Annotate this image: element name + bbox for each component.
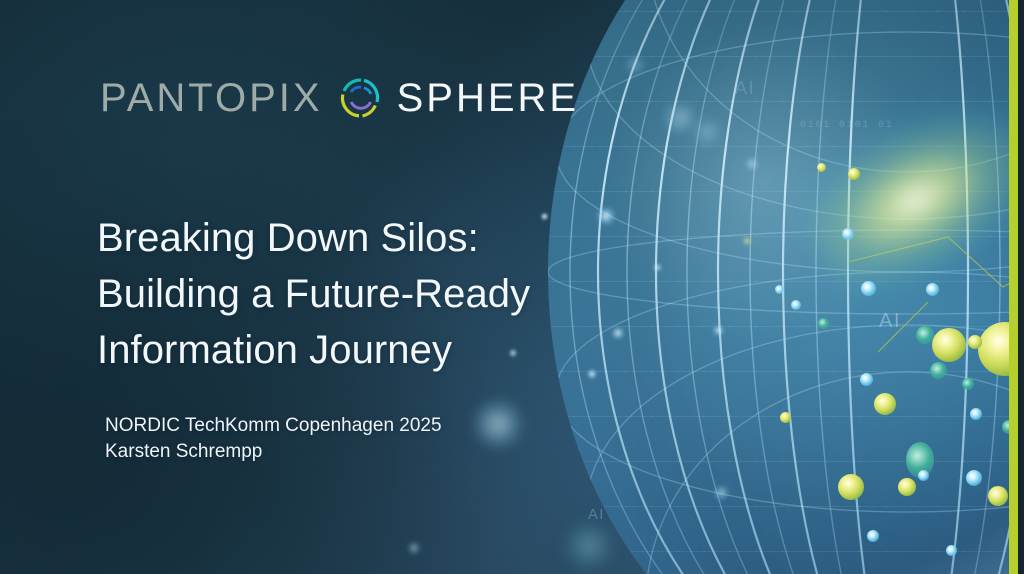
pantopix-ring-icon — [337, 74, 385, 122]
title-line-3: Information Journey — [97, 322, 617, 378]
title-line-2: Building a Future-Ready — [97, 266, 617, 322]
logo-wordmark-pantopix: PANTOPIX — [100, 78, 323, 118]
subtitle-event: NORDIC TechKomm Copenhagen 2025 — [105, 413, 442, 439]
title-line-1: Breaking Down Silos: — [97, 210, 617, 266]
title-slide: AI AI AI 0101 0101 01 PANTOPIX — [0, 0, 1024, 574]
pantopix-sphere-logo: PANTOPIX — [100, 74, 579, 122]
logo-wordmark-sphere: SPHERE — [397, 78, 580, 118]
right-edge-accent-bar — [1009, 0, 1018, 574]
slide-title: Breaking Down Silos: Building a Future-R… — [97, 210, 617, 378]
subtitle-speaker: Karsten Schrempp — [105, 439, 442, 465]
slide-subtitle: NORDIC TechKomm Copenhagen 2025 Karsten … — [105, 413, 442, 465]
right-edge-dark-margin — [1018, 0, 1024, 574]
